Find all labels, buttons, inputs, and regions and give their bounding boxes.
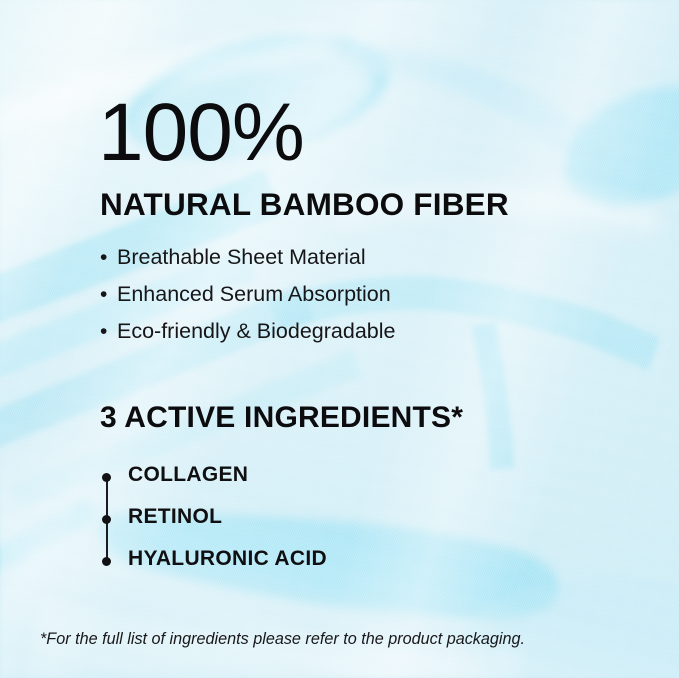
footnote-disclaimer: *For the full list of ingredients please… (40, 628, 525, 650)
ingredient-label: HYALURONIC ACID (128, 546, 327, 588)
ingredients-block: COLLAGEN RETINOL HYALURONIC ACID (100, 462, 430, 574)
product-feature-poster: 100% NATURAL BAMBOO FIBER • Breathable S… (0, 0, 679, 678)
bullet-dot-icon: • (100, 277, 117, 313)
ingredients-heading: 3 ACTIVE INGREDIENTS* (100, 400, 463, 436)
ingredient-marker-dot-icon (102, 557, 111, 566)
ingredient-marker-dot-icon (102, 515, 111, 524)
feature-list-item: • Breathable Sheet Material (100, 239, 395, 276)
bullet-dot-icon: • (100, 314, 117, 350)
hero-percent-headline: 100% (98, 90, 304, 176)
feature-label: Breathable Sheet Material (117, 239, 366, 275)
feature-list-item: • Eco-friendly & Biodegradable (100, 313, 395, 350)
ingredient-label: COLLAGEN (128, 462, 327, 504)
bullet-dot-icon: • (100, 240, 117, 276)
ingredient-label: RETINOL (128, 504, 327, 546)
ingredients-list: COLLAGEN RETINOL HYALURONIC ACID (128, 462, 327, 588)
feature-label: Enhanced Serum Absorption (117, 276, 391, 312)
feature-list: • Breathable Sheet Material • Enhanced S… (100, 239, 395, 350)
ingredient-marker-dot-icon (102, 473, 111, 482)
hero-subtitle: NATURAL BAMBOO FIBER (100, 186, 509, 222)
poster-content: 100% NATURAL BAMBOO FIBER • Breathable S… (0, 0, 679, 678)
feature-label: Eco-friendly & Biodegradable (117, 313, 395, 349)
feature-list-item: • Enhanced Serum Absorption (100, 276, 395, 313)
